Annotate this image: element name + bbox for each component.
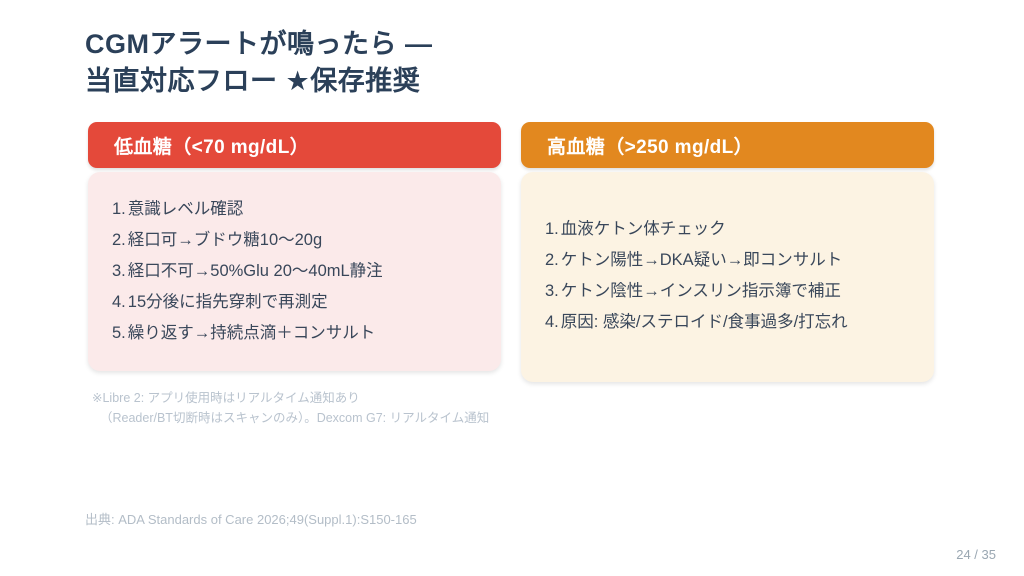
step-text: 原因: 感染/ステロイド/食事過多/打忘れ	[561, 313, 848, 331]
step-number: 1.	[545, 220, 559, 238]
step-text: 繰り返す→持続点滴＋コンサルト	[128, 324, 376, 342]
step-number: 2.	[112, 231, 126, 249]
step-text: 血液ケトン体チェック	[561, 220, 726, 238]
card-header-hyperglycemia: 高血糖（>250 mg/dL）	[521, 122, 934, 168]
card-body-hyperglycemia: 1.血液ケトン体チェック 2.ケトン陽性→DKA疑い→即コンサルト 3.ケトン陰…	[521, 172, 934, 382]
list-item: 3.ケトン陰性→インスリン指示簿で補正	[545, 276, 914, 307]
page-number: 24 / 35	[956, 547, 996, 562]
list-item: 3.経口不可→50%Glu 20〜40mL静注	[112, 256, 481, 287]
slide-canvas: CGMアラートが鳴ったら ― 当直対応フロー ★保存推奨 低血糖（<70 mg/…	[0, 0, 1024, 576]
title-line-1: CGMアラートが鳴ったら ―	[85, 26, 705, 63]
footnote: ※Libre 2: アプリ使用時はリアルタイム通知あり （Reader/BT切断…	[92, 388, 792, 429]
step-list-hypoglycemia: 1.意識レベル確認 2.経口可→ブドウ糖10〜20g 3.経口不可→50%Glu…	[112, 194, 481, 349]
card-body-hypoglycemia: 1.意識レベル確認 2.経口可→ブドウ糖10〜20g 3.経口不可→50%Glu…	[88, 172, 501, 371]
step-text: 経口不可→50%Glu 20〜40mL静注	[128, 262, 383, 280]
list-item: 4.原因: 感染/ステロイド/食事過多/打忘れ	[545, 307, 914, 338]
card-header-hypoglycemia: 低血糖（<70 mg/dL）	[88, 122, 501, 168]
list-item: 4.15分後に指先穿刺で再測定	[112, 287, 481, 318]
step-number: 3.	[112, 262, 126, 280]
step-text: 15分後に指先穿刺で再測定	[128, 293, 328, 311]
step-number: 2.	[545, 251, 559, 269]
list-item: 5.繰り返す→持続点滴＋コンサルト	[112, 318, 481, 349]
step-number: 1.	[112, 200, 126, 218]
step-text: 意識レベル確認	[128, 200, 244, 218]
list-item: 1.血液ケトン体チェック	[545, 214, 914, 245]
page-title: CGMアラートが鳴ったら ― 当直対応フロー ★保存推奨	[85, 26, 705, 99]
step-text: ケトン陽性→DKA疑い→即コンサルト	[561, 251, 842, 269]
step-list-hyperglycemia: 1.血液ケトン体チェック 2.ケトン陽性→DKA疑い→即コンサルト 3.ケトン陰…	[545, 214, 914, 338]
step-number: 4.	[545, 313, 559, 331]
source-citation: 出典: ADA Standards of Care 2026;49(Suppl.…	[85, 509, 417, 528]
step-number: 4.	[112, 293, 126, 311]
list-item: 2.経口可→ブドウ糖10〜20g	[112, 225, 481, 256]
footnote-line-1: ※Libre 2: アプリ使用時はリアルタイム通知あり	[92, 388, 792, 408]
card-header-label-hyperglycemia: 高血糖（>250 mg/dL）	[547, 132, 753, 159]
card-hyperglycemia: 高血糖（>250 mg/dL） 1.血液ケトン体チェック 2.ケトン陽性→DKA…	[521, 122, 934, 382]
step-number: 3.	[545, 282, 559, 300]
flow-columns: 低血糖（<70 mg/dL） 1.意識レベル確認 2.経口可→ブドウ糖10〜20…	[88, 122, 936, 384]
card-header-label-hypoglycemia: 低血糖（<70 mg/dL）	[114, 132, 309, 159]
step-text: 経口可→ブドウ糖10〜20g	[128, 231, 322, 249]
title-line-2: 当直対応フロー ★保存推奨	[85, 63, 705, 100]
list-item: 1.意識レベル確認	[112, 194, 481, 225]
card-hypoglycemia: 低血糖（<70 mg/dL） 1.意識レベル確認 2.経口可→ブドウ糖10〜20…	[88, 122, 501, 371]
step-number: 5.	[112, 324, 126, 342]
footnote-line-2: （Reader/BT切断時はスキャンのみ）。Dexcom G7: リアルタイム通…	[92, 408, 792, 428]
step-text: ケトン陰性→インスリン指示簿で補正	[561, 282, 841, 300]
list-item: 2.ケトン陽性→DKA疑い→即コンサルト	[545, 245, 914, 276]
